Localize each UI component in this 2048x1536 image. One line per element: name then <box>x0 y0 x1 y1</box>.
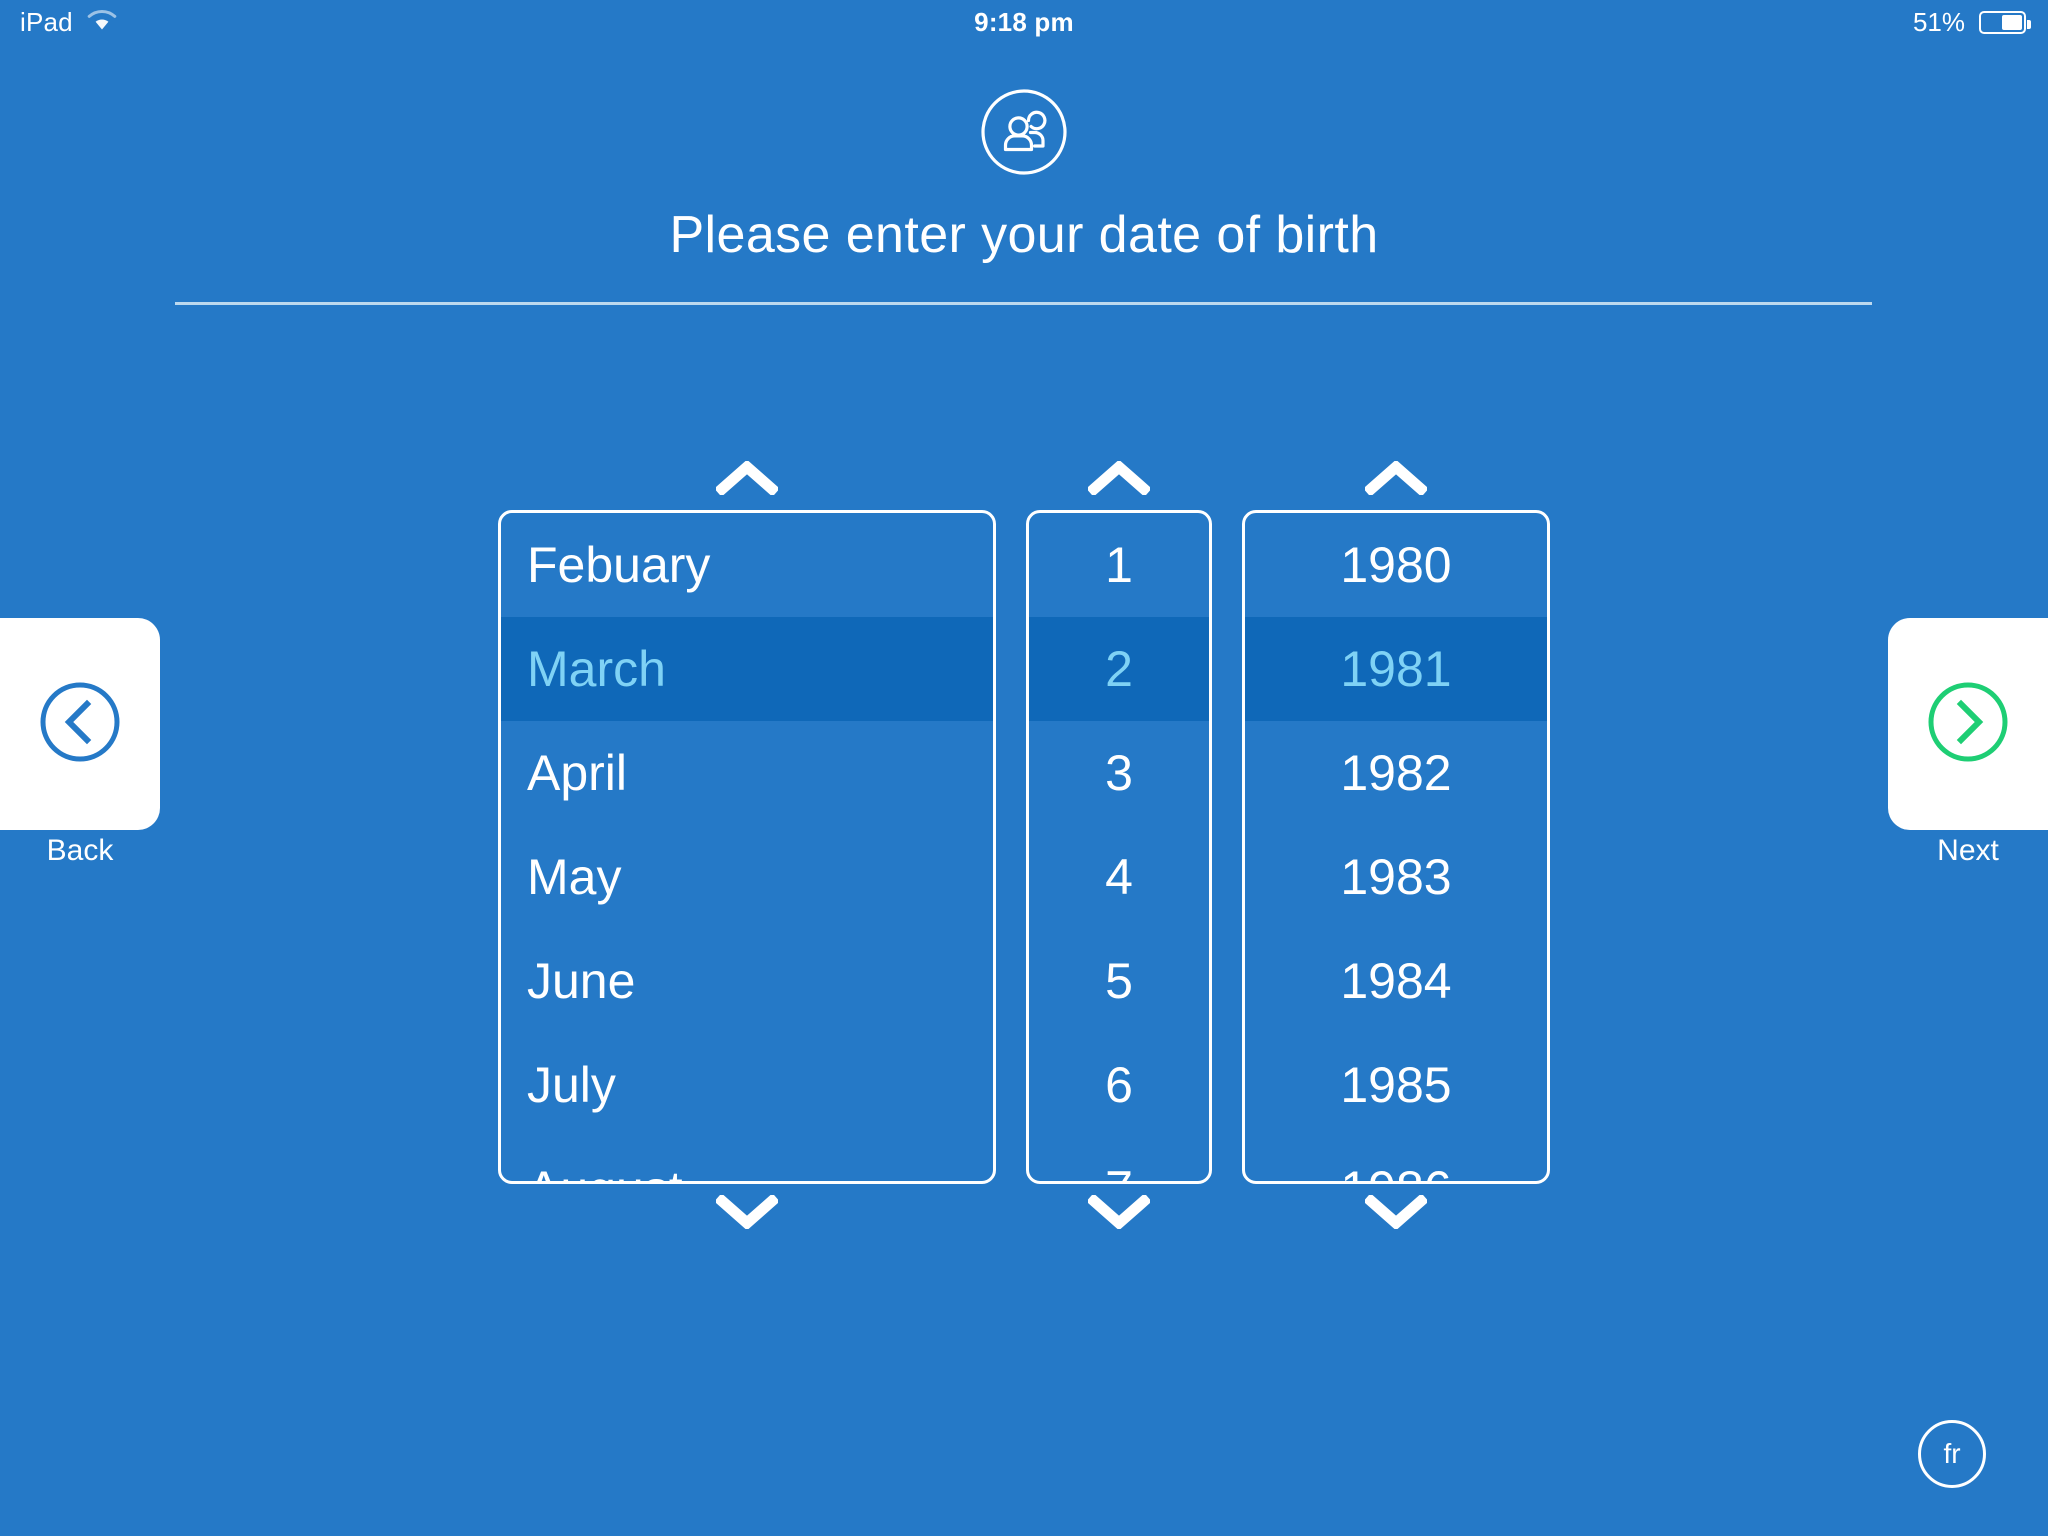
month-option[interactable]: July <box>501 1033 993 1137</box>
battery-icon <box>1979 11 2026 34</box>
month-option[interactable]: June <box>501 929 993 1033</box>
month-option-selected[interactable]: March <box>501 617 993 721</box>
day-scroll-down-button[interactable] <box>1059 1184 1179 1240</box>
app-screen: iPad 9:18 pm 51% Please enter your da <box>0 0 2048 1536</box>
month-option[interactable]: Febuary <box>501 513 993 617</box>
day-option[interactable]: 1 <box>1029 513 1209 617</box>
next-button[interactable] <box>1888 618 2048 830</box>
day-scroll-up-button[interactable] <box>1059 450 1179 506</box>
day-option[interactable]: 4 <box>1029 825 1209 929</box>
language-toggle-button[interactable]: fr <box>1918 1420 1986 1488</box>
month-option-list[interactable]: Febuary March April May June July August <box>498 510 996 1184</box>
day-option-selected[interactable]: 2 <box>1029 617 1209 721</box>
year-picker: 1980 1981 1982 1983 1984 1985 1986 <box>1242 450 1550 1240</box>
chevron-down-icon <box>1365 1195 1427 1229</box>
month-scroll-up-button[interactable] <box>687 450 807 506</box>
day-option[interactable]: 5 <box>1029 929 1209 1033</box>
chevron-up-icon <box>716 461 778 495</box>
battery-percent: 51% <box>1913 7 1965 38</box>
day-option-list[interactable]: 1 2 3 4 5 6 7 <box>1026 510 1212 1184</box>
year-option[interactable]: 1984 <box>1245 929 1547 1033</box>
header-divider <box>175 302 1872 305</box>
month-option[interactable]: April <box>501 721 993 825</box>
year-option[interactable]: 1982 <box>1245 721 1547 825</box>
users-group-icon <box>980 88 1068 176</box>
day-option[interactable]: 3 <box>1029 721 1209 825</box>
chevron-up-icon <box>1365 461 1427 495</box>
day-picker: 1 2 3 4 5 6 7 <box>1026 450 1212 1240</box>
status-bar-time: 9:18 pm <box>0 7 2048 38</box>
back-button[interactable] <box>0 618 160 830</box>
month-option[interactable]: May <box>501 825 993 929</box>
page-title: Please enter your date of birth <box>0 205 2048 265</box>
next-button-label: Next <box>1888 834 2048 868</box>
year-option[interactable]: 1985 <box>1245 1033 1547 1137</box>
month-scroll-down-button[interactable] <box>687 1184 807 1240</box>
language-toggle-label: fr <box>1943 1438 1960 1470</box>
year-option[interactable]: 1986 <box>1245 1137 1547 1184</box>
year-option-selected[interactable]: 1981 <box>1245 617 1547 721</box>
chevron-right-circle-icon <box>1918 672 2018 777</box>
month-option[interactable]: August <box>501 1137 993 1184</box>
day-option[interactable]: 6 <box>1029 1033 1209 1137</box>
date-of-birth-pickers: Febuary March April May June July August <box>0 450 2048 1240</box>
chevron-left-circle-icon <box>30 672 130 777</box>
back-button-label: Back <box>0 834 160 868</box>
day-option[interactable]: 7 <box>1029 1137 1209 1184</box>
year-scroll-down-button[interactable] <box>1336 1184 1456 1240</box>
year-scroll-up-button[interactable] <box>1336 450 1456 506</box>
year-option-list[interactable]: 1980 1981 1982 1983 1984 1985 1986 <box>1242 510 1550 1184</box>
status-bar-right: 51% <box>1913 7 2026 38</box>
status-bar: iPad 9:18 pm 51% <box>0 0 2048 44</box>
chevron-down-icon <box>1088 1195 1150 1229</box>
year-option[interactable]: 1983 <box>1245 825 1547 929</box>
year-option[interactable]: 1980 <box>1245 513 1547 617</box>
chevron-up-icon <box>1088 461 1150 495</box>
month-picker: Febuary March April May June July August <box>498 450 996 1240</box>
chevron-down-icon <box>716 1195 778 1229</box>
battery-fill <box>2002 15 2022 30</box>
